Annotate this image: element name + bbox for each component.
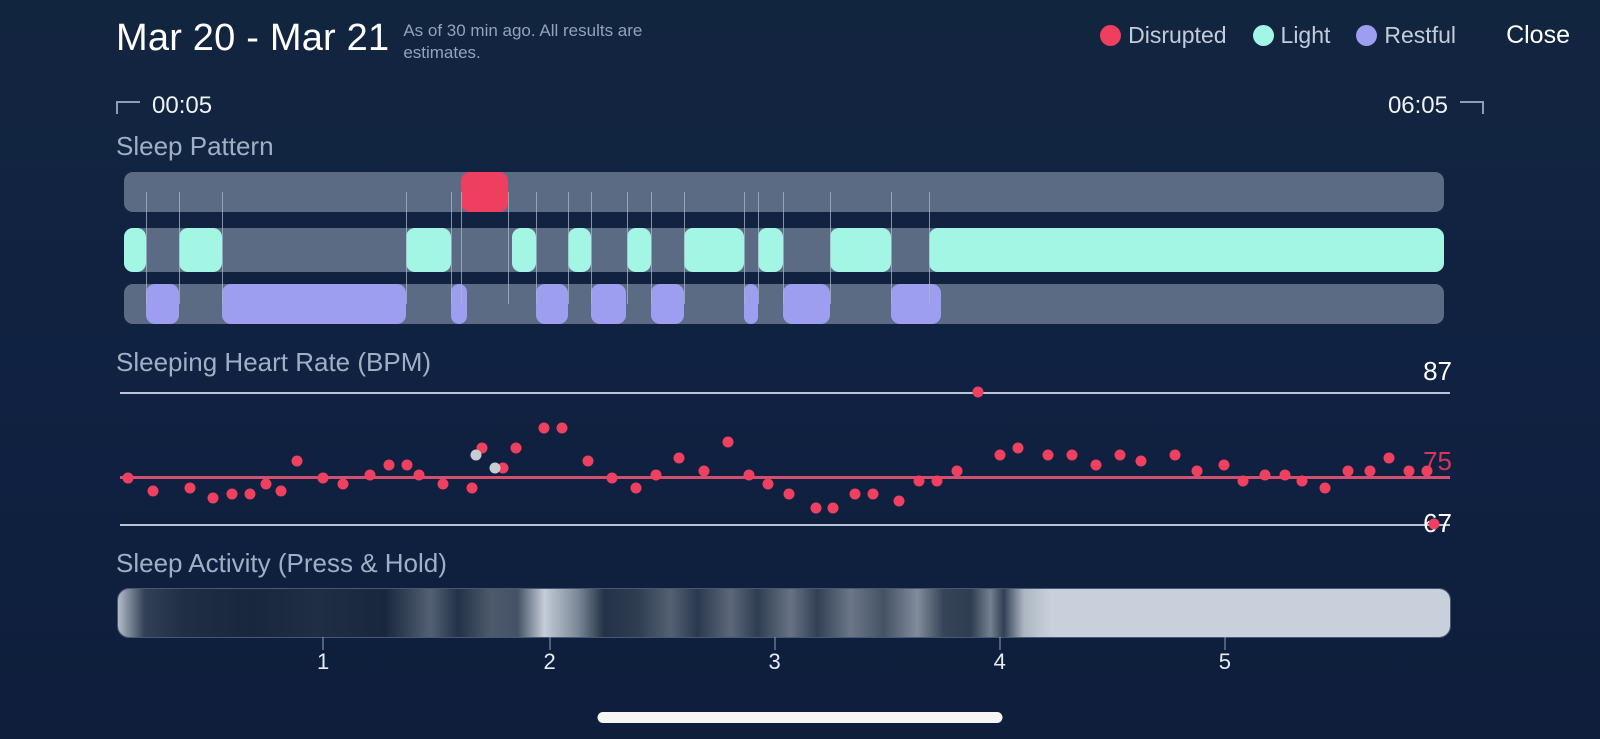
circle-icon [1100, 25, 1121, 46]
pattern-connector [783, 192, 784, 304]
heart-rate-point [414, 469, 425, 480]
pattern-connector [830, 192, 831, 304]
legend-label-light: Light [1281, 22, 1331, 49]
track-restful[interactable] [124, 284, 1444, 324]
circle-icon [1253, 25, 1274, 46]
heart-rate-point [539, 423, 550, 434]
pattern-segment-light[interactable] [830, 228, 891, 272]
heart-rate-point [650, 469, 661, 480]
section-title-heart-rate: Sleeping Heart Rate (BPM) [116, 347, 431, 378]
heart-rate-point [261, 479, 272, 490]
pattern-connector [222, 192, 223, 304]
heart-rate-point [467, 482, 478, 493]
heart-rate-point [698, 466, 709, 477]
timeline-end-time: 06:05 [1388, 92, 1448, 120]
heart-rate-point [1237, 476, 1248, 487]
heart-rate-max-line [120, 392, 1450, 394]
axis-tick-label: 2 [543, 649, 555, 675]
title-group: Mar 20 - Mar 21 As of 30 min ago. All re… [116, 12, 683, 64]
bracket-right-icon [1460, 101, 1484, 114]
pattern-segment-restful[interactable] [783, 284, 831, 324]
heart-rate-point [951, 466, 962, 477]
heart-rate-point [185, 482, 196, 493]
heart-rate-point [402, 459, 413, 470]
pattern-segment-light[interactable] [758, 228, 783, 272]
legend-item-light[interactable]: Light [1253, 22, 1331, 49]
heart-rate-point [208, 492, 219, 503]
heart-rate-point [511, 443, 522, 454]
pattern-connector [627, 192, 628, 304]
heart-rate-point [1403, 466, 1414, 477]
heart-rate-point [1192, 466, 1203, 477]
pattern-connector [508, 192, 509, 304]
section-title-sleep-pattern: Sleep Pattern [116, 131, 274, 162]
report-subtitle: As of 30 min ago. All results are estima… [403, 20, 683, 64]
track-disrupted[interactable] [124, 172, 1444, 212]
heart-rate-point [673, 453, 684, 464]
pattern-segment-light[interactable] [929, 228, 1444, 272]
heart-rate-point [810, 502, 821, 513]
pattern-segment-light[interactable] [684, 228, 745, 272]
pattern-connector [461, 192, 462, 304]
pattern-connector [146, 192, 147, 304]
pattern-segment-restful[interactable] [146, 284, 179, 324]
heart-rate-point [1365, 466, 1376, 477]
section-title-sleep-activity: Sleep Activity (Press & Hold) [116, 548, 447, 579]
heart-rate-point [1280, 469, 1291, 480]
heart-rate-point [383, 459, 394, 470]
heart-rate-point [607, 472, 618, 483]
heart-rate-point [762, 479, 773, 490]
heart-rate-max-value: 87 [1423, 356, 1452, 387]
heart-rate-point [1297, 476, 1308, 487]
pattern-connector [536, 192, 537, 304]
heart-rate-point [631, 482, 642, 493]
legend-label-restful: Restful [1384, 22, 1456, 49]
heart-rate-point [1136, 456, 1147, 467]
heart-rate-point [722, 436, 733, 447]
legend-label-disrupted: Disrupted [1128, 22, 1226, 49]
heart-rate-point [1319, 482, 1330, 493]
legend-item-restful[interactable]: Restful [1356, 22, 1456, 49]
pattern-segment-light[interactable] [568, 228, 592, 272]
heart-rate-point [972, 387, 983, 398]
sleep-pattern-chart[interactable] [124, 172, 1444, 324]
track-light[interactable] [124, 228, 1444, 272]
activity-time-axis: 12345 [118, 637, 1450, 677]
heart-rate-point [583, 456, 594, 467]
pattern-connector [179, 192, 180, 304]
pattern-connector [568, 192, 569, 304]
pattern-segment-light[interactable] [124, 228, 146, 272]
heart-rate-point [1067, 449, 1078, 460]
axis-tick-label: 4 [994, 649, 1006, 675]
pattern-connector [684, 192, 685, 304]
pattern-segment-restful[interactable] [451, 284, 467, 324]
pattern-segment-restful[interactable] [891, 284, 941, 324]
pattern-segment-disrupted[interactable] [461, 172, 509, 212]
home-indicator [598, 712, 1003, 723]
heart-rate-point [148, 486, 159, 497]
pattern-connector [758, 192, 759, 304]
heart-rate-point [438, 479, 449, 490]
pattern-connector [929, 192, 930, 304]
circle-icon [1356, 25, 1377, 46]
axis-tick-label: 3 [769, 649, 781, 675]
pattern-connector [891, 192, 892, 304]
heart-rate-point [894, 495, 905, 506]
heart-rate-point [490, 462, 501, 473]
heart-rate-point [1429, 519, 1440, 530]
pattern-segment-restful[interactable] [744, 284, 757, 324]
sleep-activity-strip[interactable] [118, 589, 1450, 637]
pattern-segment-light[interactable] [179, 228, 221, 272]
report-header: Mar 20 - Mar 21 As of 30 min ago. All re… [0, 0, 1600, 80]
heart-rate-point [365, 469, 376, 480]
pattern-segment-restful[interactable] [651, 284, 684, 324]
pattern-segment-light[interactable] [627, 228, 651, 272]
sleep-report-screen: Mar 20 - Mar 21 As of 30 min ago. All re… [0, 0, 1600, 739]
heart-rate-point [1342, 466, 1353, 477]
pattern-segment-restful[interactable] [591, 284, 625, 324]
heart-rate-point [291, 456, 302, 467]
timeline-range-row: 00:05 06:05 [116, 92, 1484, 124]
heart-rate-point [827, 502, 838, 513]
bracket-left-icon [116, 101, 140, 114]
heart-rate-point [1012, 443, 1023, 454]
pattern-segment-restful[interactable] [536, 284, 568, 324]
heart-rate-point [318, 472, 329, 483]
heart-rate-point [245, 489, 256, 500]
pattern-segment-restful[interactable] [222, 284, 407, 324]
heart-rate-point [1218, 459, 1229, 470]
heart-rate-point [1422, 466, 1433, 477]
heart-rate-point [1115, 449, 1126, 460]
activity-gradient [118, 589, 1450, 637]
legend: Disrupted Light Restful [1100, 22, 1456, 49]
heart-rate-point [850, 489, 861, 500]
pattern-connector [651, 192, 652, 304]
page-title: Mar 20 - Mar 21 [116, 12, 389, 64]
heart-rate-point [471, 449, 482, 460]
heart-rate-point [122, 472, 133, 483]
heart-rate-chart[interactable]: 87 75 67 [120, 380, 1450, 535]
timeline-start-time: 00:05 [152, 92, 212, 120]
heart-rate-min-line [120, 524, 1450, 526]
axis-tick-label: 5 [1219, 649, 1231, 675]
pattern-segment-light[interactable] [406, 228, 451, 272]
axis-tick-label: 1 [317, 649, 329, 675]
heart-rate-point [556, 423, 567, 434]
pattern-connector [406, 192, 407, 304]
heart-rate-point [867, 489, 878, 500]
heart-rate-point [1091, 459, 1102, 470]
heart-rate-point [1260, 469, 1271, 480]
heart-rate-point [1043, 449, 1054, 460]
legend-item-disrupted[interactable]: Disrupted [1100, 22, 1226, 49]
heart-rate-point [744, 469, 755, 480]
heart-rate-point [1169, 449, 1180, 460]
heart-rate-point [783, 489, 794, 500]
pattern-connector [451, 192, 452, 304]
heart-rate-point [226, 489, 237, 500]
pattern-segment-light[interactable] [512, 228, 536, 272]
heart-rate-point [275, 486, 286, 497]
pattern-connector [591, 192, 592, 304]
close-button[interactable]: Close [1506, 21, 1570, 50]
heart-rate-point [1383, 453, 1394, 464]
heart-rate-point [931, 476, 942, 487]
heart-rate-point [338, 479, 349, 490]
heart-rate-point [914, 476, 925, 487]
pattern-connector [744, 192, 745, 304]
heart-rate-point [995, 449, 1006, 460]
